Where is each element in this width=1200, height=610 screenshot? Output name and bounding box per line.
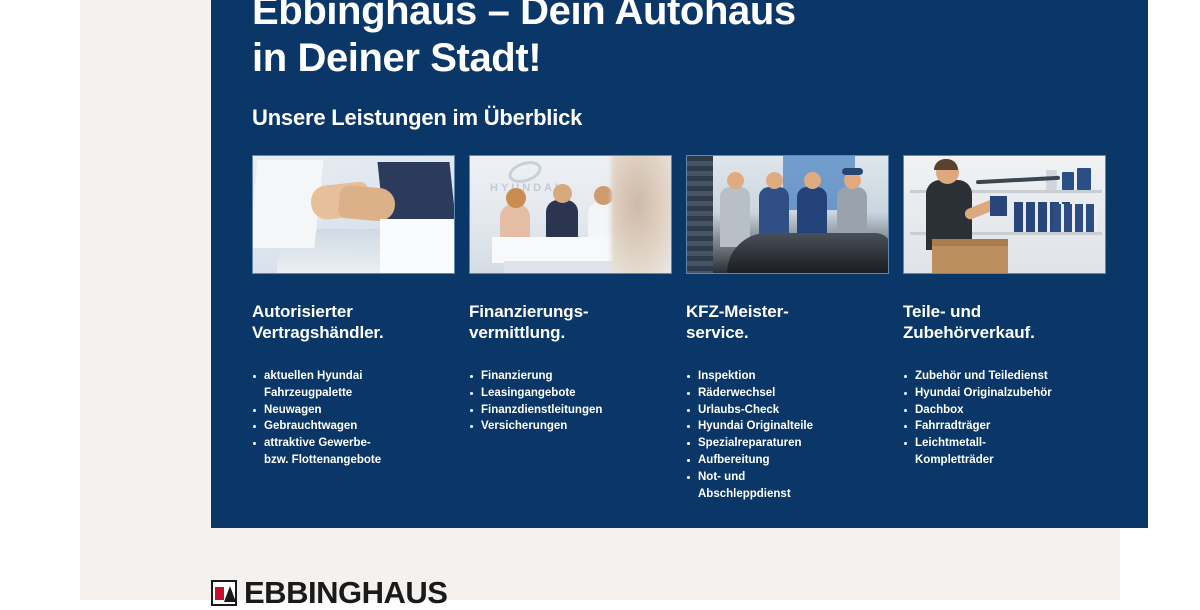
list-item: Spezialreparaturen	[686, 435, 889, 452]
list-item: Urlaubs-Check	[686, 402, 889, 419]
list-item: Finanzdienstleitungen	[469, 402, 672, 419]
list-item: Zubehör und Teiledienst	[903, 368, 1106, 385]
service-card-vertragshaendler: Autorisierter Vertragshändler. aktuellen…	[252, 155, 455, 502]
list-item: Leichtmetall- Kompletträder	[903, 435, 1106, 469]
list-item: attraktive Gewerbe- bzw. Flottenangebote	[252, 435, 455, 469]
list-item: Dachbox	[903, 402, 1106, 419]
page-title: Ebbinghaus – Dein Autohaus in Deiner Sta…	[252, 0, 1114, 82]
hero-text-block: Ebbinghaus – Dein Autohaus in Deiner Sta…	[252, 0, 1114, 132]
list-item: Not- und Abschleppdienst	[686, 469, 889, 503]
list-item: Fahrradträger	[903, 418, 1106, 435]
service-card-teile-zubehoer: Teile- und Zubehörverkauf. Zubehör und T…	[903, 155, 1106, 502]
logo-wordmark: EBBINGHAUS	[244, 578, 447, 608]
page-canvas: Ebbinghaus – Dein Autohaus in Deiner Sta…	[80, 0, 1120, 600]
service-title: KFZ-Meister- service.	[686, 301, 889, 343]
footer-logo[interactable]: EBBINGHAUS	[211, 578, 447, 608]
list-item: Neuwagen	[252, 402, 455, 419]
parts-counter-employee-photo	[903, 155, 1106, 274]
service-title: Finanzierungs- vermittlung.	[469, 301, 672, 343]
list-item: Hyundai Originalzubehör	[903, 385, 1106, 402]
service-card-finanzierung: HYUNDAI Finanzierungs- vermittlung. Fina…	[469, 155, 672, 502]
service-title: Autorisierter Vertragshändler.	[252, 301, 455, 343]
handshake-photo	[252, 155, 455, 274]
service-feature-list: Zubehör und Teiledienst Hyundai Original…	[903, 368, 1106, 469]
list-item: aktuellen Hyundai Fahrzeugpalette	[252, 368, 455, 402]
service-feature-list: Finanzierung Leasingangebote Finanzdiens…	[469, 368, 672, 435]
hero-subtitle: Unsere Leistungen im Überblick	[252, 104, 1114, 132]
ebbinghaus-logo-mark-icon	[211, 580, 237, 606]
service-card-kfz-meisterservice: KFZ-Meister- service. Inspektion Räderwe…	[686, 155, 889, 502]
service-title: Teile- und Zubehörverkauf.	[903, 301, 1106, 343]
list-item: Aufbereitung	[686, 452, 889, 469]
workshop-mechanics-team-photo	[686, 155, 889, 274]
list-item: Finanzierung	[469, 368, 672, 385]
service-feature-list: Inspektion Räderwechsel Urlaubs-Check Hy…	[686, 368, 889, 502]
service-feature-list: aktuellen Hyundai Fahrzeugpalette Neuwag…	[252, 368, 455, 469]
hyundai-showroom-consultation-photo: HYUNDAI	[469, 155, 672, 274]
list-item: Gebrauchtwagen	[252, 418, 455, 435]
list-item: Inspektion	[686, 368, 889, 385]
list-item: Versicherungen	[469, 418, 672, 435]
list-item: Hyundai Originalteile	[686, 418, 889, 435]
services-grid: Autorisierter Vertragshändler. aktuellen…	[252, 155, 1107, 502]
list-item: Leasingangebote	[469, 385, 672, 402]
list-item: Räderwechsel	[686, 385, 889, 402]
